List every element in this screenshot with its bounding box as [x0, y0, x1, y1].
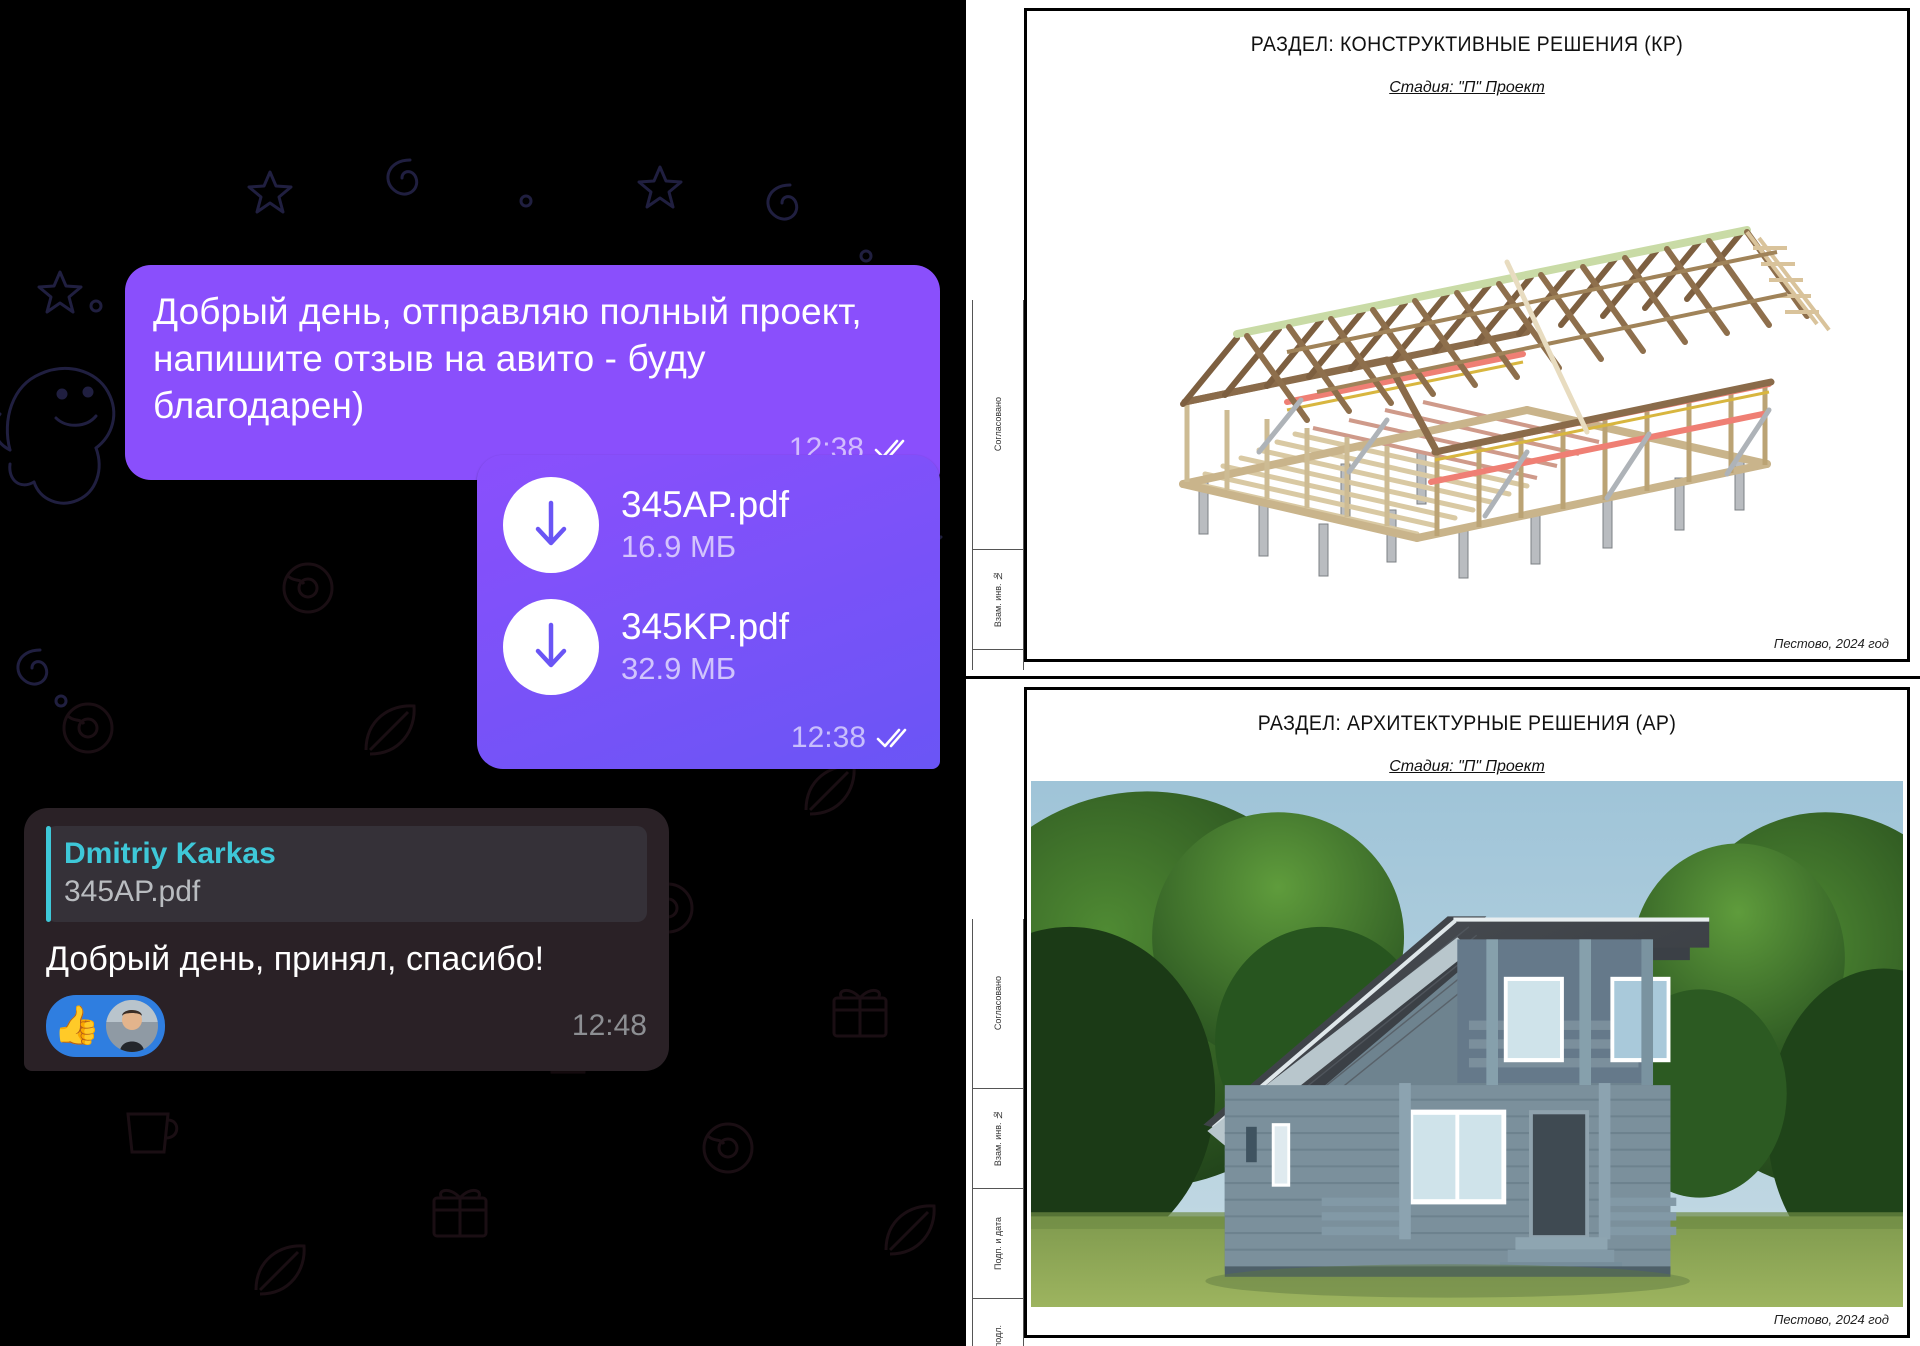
- file-size: 16.9 МБ: [621, 528, 789, 565]
- avatar: [106, 1000, 158, 1052]
- sheet-stage: Стадия: "П" Проект: [1027, 79, 1907, 97]
- sheet-canvas: [1027, 97, 1907, 636]
- reply-author: Dmitriy Karkas: [64, 836, 633, 873]
- titleblock-cell-podp: Подп. и дата: [972, 650, 1024, 670]
- titleblock-cell-inv: Инв. № подл.: [972, 1299, 1024, 1346]
- message-time: 12:48: [572, 1009, 647, 1043]
- download-arrow-icon[interactable]: [503, 477, 599, 573]
- sheet-title: РАЗДЕЛ: КОНСТРУКТИВНЫЕ РЕШЕНИЯ (КР): [1058, 33, 1876, 57]
- double-check-icon: [876, 726, 914, 750]
- sheet-stage-text: Стадия: "П" Проект: [1389, 758, 1545, 775]
- file-attachment-row[interactable]: 345AP.pdf 16.9 МБ: [503, 477, 914, 573]
- sheet-canvas: [1027, 776, 1907, 1312]
- outgoing-files-message[interactable]: 345AP.pdf 16.9 МБ 345KP.pdf 32.9 МБ: [477, 455, 940, 769]
- titleblock-label: Подп. и дата: [993, 1217, 1003, 1270]
- titleblock-side-column: Согласовано Взам. инв. № Подп. и дата Ин…: [966, 0, 1024, 670]
- titleblock-label: Инв. № подл.: [993, 1325, 1003, 1346]
- message-list: Добрый день, отправляю полный проект, на…: [0, 0, 966, 1346]
- titleblock-cell-vzam: Взам. инв. №: [972, 1089, 1024, 1189]
- incoming-message[interactable]: Dmitriy Karkas 345AP.pdf Добрый день, пр…: [24, 808, 669, 1071]
- sheet-body-ar: РАЗДЕЛ: АРХИТЕКТУРНЫЕ РЕШЕНИЯ (АР) Стади…: [1024, 687, 1910, 1338]
- exterior-render-house: [1031, 781, 1903, 1307]
- message-text: Добрый день, принял, спасибо!: [46, 938, 647, 981]
- file-info: 345KP.pdf 32.9 МБ: [621, 607, 789, 687]
- file-name: 345KP.pdf: [621, 607, 789, 648]
- titleblock-label: Взам. инв. №: [993, 571, 1003, 627]
- file-info: 345AP.pdf 16.9 МБ: [621, 485, 789, 565]
- outgoing-text-message[interactable]: Добрый день, отправляю полный проект, на…: [125, 265, 940, 480]
- screen-root: Добрый день, отправляю полный проект, на…: [0, 0, 1920, 1346]
- document-sheet-ar[interactable]: Согласовано Взам. инв. № Подп. и дата Ин…: [966, 676, 1920, 1346]
- sheet-footer: Пестово, 2024 год: [1027, 636, 1907, 659]
- titleblock-cell-podp: Подп. и дата: [972, 1189, 1024, 1299]
- pdf-viewer-pane[interactable]: Согласовано Взам. инв. № Подп. и дата Ин…: [966, 0, 1920, 1346]
- telegram-chat-pane: Добрый день, отправляю полный проект, на…: [0, 0, 966, 1346]
- file-name: 345AP.pdf: [621, 485, 789, 526]
- titleblock-label: Взам. инв. №: [993, 1110, 1003, 1166]
- sheet-body-kr: РАЗДЕЛ: КОНСТРУКТИВНЫЕ РЕШЕНИЯ (КР) Стад…: [1024, 8, 1910, 662]
- titleblock-label: Согласовано: [993, 397, 1003, 451]
- sheet-stage: Стадия: "П" Проект: [1027, 758, 1907, 776]
- message-meta: 12:38: [503, 721, 914, 755]
- reply-quote[interactable]: Dmitriy Karkas 345AP.pdf: [46, 826, 647, 922]
- sheet-stage-text: Стадия: "П" Проект: [1389, 79, 1545, 96]
- message-text: Добрый день, отправляю полный проект, на…: [153, 289, 912, 430]
- download-arrow-icon[interactable]: [503, 599, 599, 695]
- reply-preview: 345AP.pdf: [64, 873, 633, 911]
- titleblock-cell-soglasovano: Согласовано: [972, 919, 1024, 1089]
- sheet-title: РАЗДЕЛ: АРХИТЕКТУРНЫЕ РЕШЕНИЯ (АР): [1058, 712, 1876, 736]
- message-footer: 👍 12:48: [46, 995, 647, 1057]
- titleblock-cell-vzam: Взам. инв. №: [972, 550, 1024, 650]
- file-attachment-row[interactable]: 345KP.pdf 32.9 МБ: [503, 599, 914, 695]
- thumbs-up-icon: 👍: [53, 1007, 100, 1045]
- reaction-pill[interactable]: 👍: [46, 995, 165, 1057]
- 3d-timber-frame-model: [1027, 97, 1907, 636]
- file-size: 32.9 МБ: [621, 650, 789, 687]
- titleblock-cell-soglasovano: Согласовано: [972, 300, 1024, 550]
- titleblock-side-column: Согласовано Взам. инв. № Подп. и дата Ин…: [966, 679, 1024, 1346]
- titleblock-label: Согласовано: [993, 976, 1003, 1030]
- document-sheet-kr[interactable]: Согласовано Взам. инв. № Подп. и дата Ин…: [966, 0, 1920, 670]
- sheet-footer: Пестово, 2024 год: [1027, 1312, 1907, 1335]
- message-time: 12:38: [791, 721, 866, 755]
